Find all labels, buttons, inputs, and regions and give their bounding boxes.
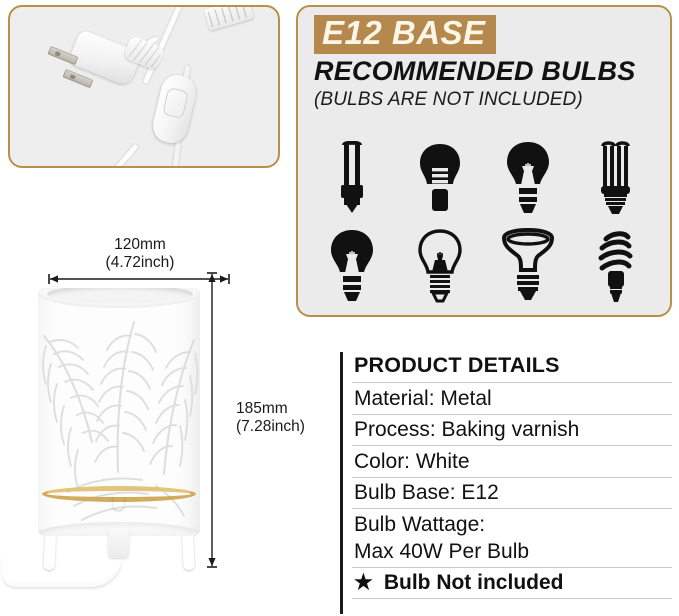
prong-hole: [70, 74, 76, 80]
width-dimension-label: 120mm (4.72inch): [48, 236, 232, 273]
terminal-lines: [208, 5, 251, 27]
detail-row-bulb-wattage-value: Max 40W Per Bulb: [352, 539, 672, 567]
bulb-icon-grid: [308, 135, 660, 311]
incandescent-filled-icon: [486, 136, 570, 222]
e12-header: E12 BASE RECOMMENDED BULBS (BULBS ARE NO…: [314, 15, 658, 112]
bulb-striped-solid-icon: [398, 136, 482, 222]
star-icon: ★: [354, 572, 373, 593]
width-value-mm: 120mm: [48, 236, 232, 254]
height-value-mm: 185mm: [236, 400, 328, 418]
incandescent-outline-icon: [398, 224, 482, 310]
height-value-inch: (7.28inch): [236, 418, 328, 436]
width-value-inch: (4.72inch): [48, 254, 232, 272]
lamp-dimension-diagram: 120mm (4.72inch) 185mm (7.28inch): [0, 232, 330, 616]
height-dimension-label: 185mm (7.28inch): [236, 400, 328, 437]
power-cord-panel: [8, 5, 280, 168]
power-cord-illustration: [10, 7, 278, 166]
bulbs-not-included-note: (BULBS ARE NOT INCLUDED): [314, 89, 658, 112]
detail-row-bulb-not-included: ★ Bulb Not included: [352, 567, 672, 600]
e12-base-badge: E12 BASE: [314, 15, 496, 54]
prong-hole: [55, 51, 61, 57]
recommended-bulbs-heading: RECOMMENDED BULBS: [314, 56, 658, 86]
lamp-socket: [108, 528, 129, 558]
detail-row-process: Process: Baking varnish: [352, 414, 672, 446]
detail-row-material: Material: Metal: [352, 382, 672, 414]
lamp-power-cord: [2, 556, 122, 587]
cfl-spiral-icon: [574, 224, 658, 310]
detail-row-bulb-wattage: Bulb Wattage:: [352, 508, 672, 538]
product-details-panel: PRODUCT DETAILS Material: Metal Process:…: [340, 352, 672, 614]
lamp-leg-center: [113, 494, 124, 510]
height-arrow: [206, 270, 218, 570]
cfl-quad-tube-icon: [574, 136, 658, 222]
e12-recommended-bulbs-panel: E12 BASE RECOMMENDED BULBS (BULBS ARE NO…: [296, 5, 672, 317]
cord-bottom-left: [102, 143, 139, 168]
infographic-canvas: E12 BASE RECOMMENDED BULBS (BULBS ARE NO…: [0, 0, 679, 616]
terminal-block: [204, 5, 254, 31]
bulb-not-included-text: Bulb Not included: [384, 570, 564, 596]
cfl-twin-tube-icon: [310, 136, 394, 222]
product-details-title: PRODUCT DETAILS: [352, 352, 672, 382]
detail-row-bulb-base: Bulb Base: E12: [352, 477, 672, 509]
reflector-flood-icon: [486, 224, 570, 310]
table-lamp-illustration: [38, 280, 200, 570]
detail-row-color: Color: White: [352, 445, 672, 477]
plug-prong: [62, 69, 93, 89]
